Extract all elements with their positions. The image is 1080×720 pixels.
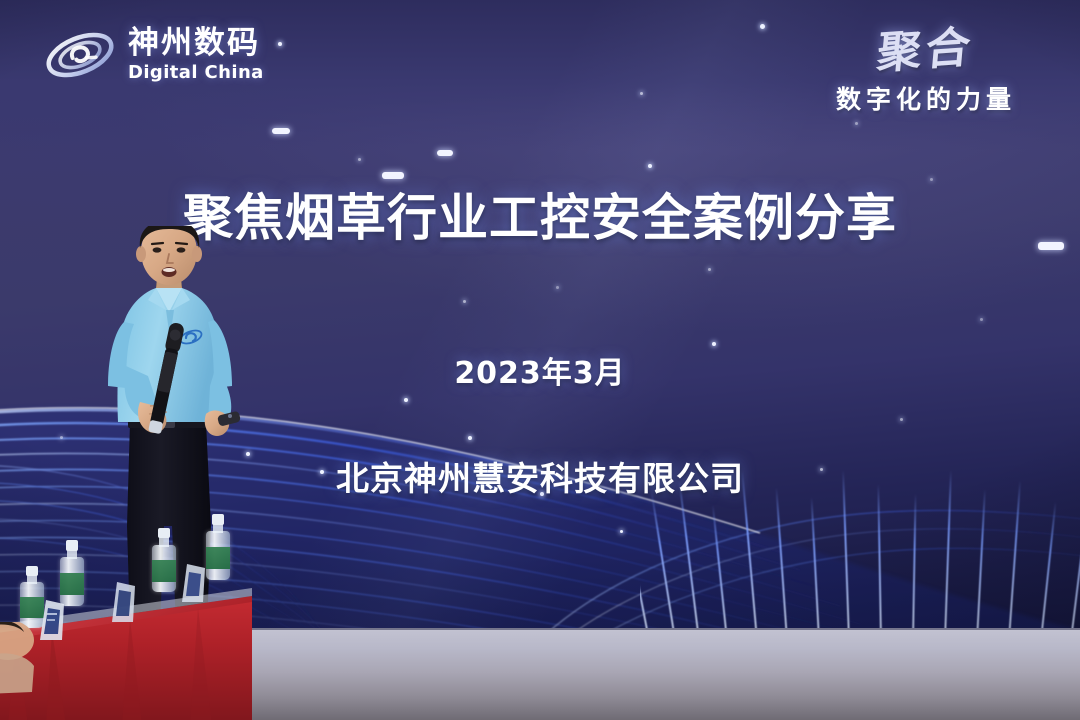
galaxy-swirl-icon xyxy=(42,24,118,86)
brand-name-cn: 神州数码 xyxy=(128,28,264,59)
brand-logo: 神州数码 Digital China xyxy=(42,20,282,90)
name-tent xyxy=(108,578,140,622)
watermark-subtitle: 数字化的力量 xyxy=(796,80,1056,116)
conference-photo: 神州数码 Digital China 聚合 数字化的力量 聚焦烟草行业工控安全案… xyxy=(0,0,1080,720)
name-tent xyxy=(178,560,210,602)
attendee-svg xyxy=(0,622,90,720)
water-bottle xyxy=(152,528,176,592)
brand-text: 神州数码 Digital China xyxy=(128,28,264,82)
brand-name-en: Digital China xyxy=(128,64,264,82)
watermark-calligraphy: 聚合 xyxy=(792,5,1060,87)
event-watermark: 聚合 数字化的力量 xyxy=(796,14,1056,114)
attendee-figure xyxy=(0,622,90,720)
